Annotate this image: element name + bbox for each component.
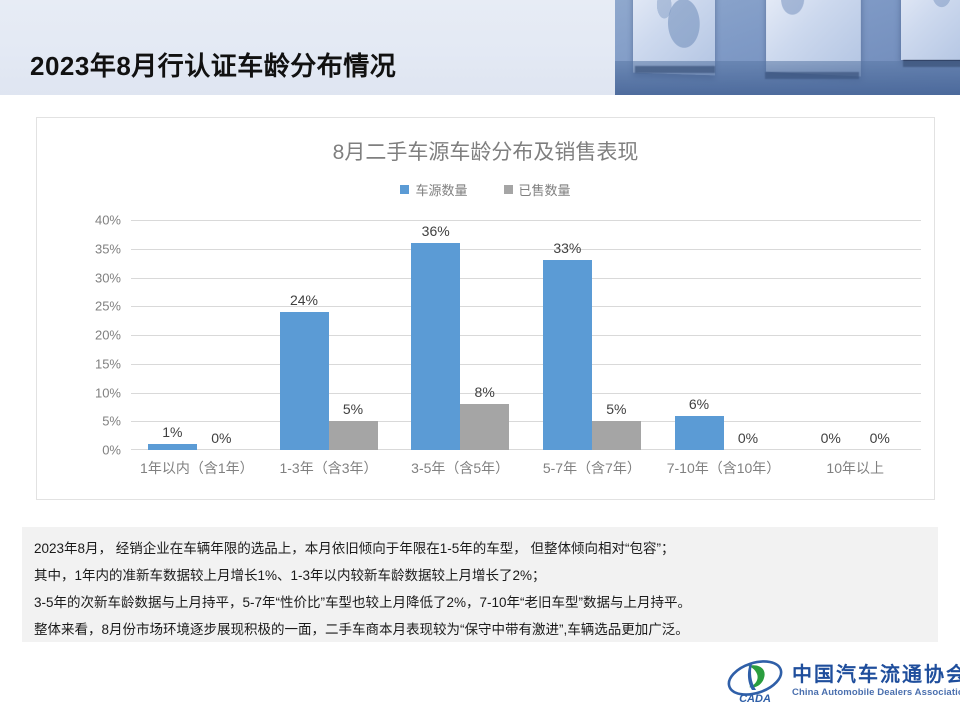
- logo-english-name: China Automobile Dealers Association: [792, 686, 960, 699]
- x-axis-tick-label: 5-7年（含7年）: [526, 458, 658, 478]
- x-axis-labels: 1年以内（含1年）1-3年（含3年）3-5年（含5年）5-7年（含7年）7-10…: [131, 458, 921, 478]
- bar-series-0[interactable]: [411, 243, 460, 450]
- cube-shadow: [765, 72, 859, 79]
- commentary-line: 2023年8月， 经销企业在车辆年限的选品上，本月依旧倾向于年限在1-5年的车型…: [34, 535, 926, 562]
- cada-emblem-icon: CADA: [726, 656, 784, 706]
- bar-series-0[interactable]: [280, 312, 329, 450]
- bar-group: 6%0%: [658, 220, 790, 450]
- y-axis-tick-label: 35%: [95, 241, 121, 256]
- y-axis-tick-label: 25%: [95, 299, 121, 314]
- bar-group: 1%0%: [131, 220, 263, 450]
- cube-shadow: [635, 66, 715, 73]
- bar-slot: 8%: [460, 220, 509, 450]
- x-axis-tick-label: 1-3年（含3年）: [263, 458, 395, 478]
- legend-label: 已售数量: [519, 180, 571, 199]
- commentary-line: 整体来看，8月份市场环境逐步展现积极的一面，二手车商本月表现较为“保守中带有激进…: [34, 616, 926, 643]
- legend-item-series-1[interactable]: 已售数量: [504, 180, 571, 199]
- bar-series-1[interactable]: [460, 404, 509, 450]
- x-axis-tick-label: 3-5年（含5年）: [394, 458, 526, 478]
- bar-series-0[interactable]: [148, 444, 197, 450]
- bar-slot: 1%: [148, 220, 197, 450]
- organization-logo: CADA 中国汽车流通协会 China Automobile Dealers A…: [726, 655, 941, 707]
- y-axis-tick-label: 5%: [102, 414, 121, 429]
- y-axis-tick-label: 20%: [95, 328, 121, 343]
- legend-swatch-icon: [504, 185, 513, 194]
- chart-container: 8月二手车源车龄分布及销售表现 车源数量 已售数量 40%35%30%25%20…: [36, 117, 935, 500]
- chart-title: 8月二手车源车龄分布及销售表现: [37, 136, 934, 166]
- commentary-line: 其中，1年内的准新车数据较上月增长1%、1-3年以内较新车龄数据较上月增长了2%…: [34, 562, 926, 589]
- x-axis-tick-label: 1年以内（含1年）: [131, 458, 263, 478]
- svg-text:CADA: CADA: [739, 693, 771, 705]
- bar-series-0[interactable]: [543, 260, 592, 450]
- legend-item-series-0[interactable]: 车源数量: [400, 180, 467, 199]
- y-axis: 40%35%30%25%20%15%10%5%0%: [83, 220, 127, 450]
- bar-group: 24%5%: [263, 220, 395, 450]
- bar-slot: 0%: [724, 220, 773, 450]
- logo-chinese-name: 中国汽车流通协会: [792, 664, 960, 686]
- bar-value-label: 0%: [211, 430, 231, 446]
- bar-group: 0%0%: [789, 220, 921, 450]
- y-axis-tick-label: 40%: [95, 213, 121, 228]
- bar-slot: 0%: [197, 220, 246, 450]
- x-axis-tick-label: 7-10年（含10年）: [658, 458, 790, 478]
- cube-icon: [766, 0, 861, 77]
- commentary-line: 3-5年的次新车龄数据与上月持平，5-7年“性价比”车型也较上月降低了2%，7-…: [34, 589, 926, 616]
- commentary-panel: 2023年8月， 经销企业在车辆年限的选品上，本月依旧倾向于年限在1-5年的车型…: [22, 527, 938, 642]
- bar-group: 36%8%: [394, 220, 526, 450]
- bar-value-label: 6%: [689, 396, 709, 412]
- chart-bars: 1%0%24%5%36%8%33%5%6%0%0%0%: [131, 220, 921, 450]
- y-axis-tick-label: 10%: [95, 385, 121, 400]
- bar-value-label: 1%: [162, 424, 182, 440]
- header-decorative-image: [615, 0, 960, 95]
- bar-value-label: 24%: [290, 292, 318, 308]
- chart-legend: 车源数量 已售数量: [37, 180, 934, 199]
- legend-label: 车源数量: [415, 180, 467, 199]
- bar-slot: 0%: [855, 220, 904, 450]
- cube-shadow: [903, 60, 960, 67]
- bar-value-label: 0%: [821, 430, 841, 446]
- bar-slot: 33%: [543, 220, 592, 450]
- bar-value-label: 5%: [606, 401, 626, 417]
- bar-slot: 5%: [592, 220, 641, 450]
- bar-group: 33%5%: [526, 220, 658, 450]
- y-axis-tick-label: 15%: [95, 356, 121, 371]
- bar-value-label: 0%: [870, 430, 890, 446]
- bar-slot: 6%: [675, 220, 724, 450]
- bar-series-0[interactable]: [675, 416, 724, 451]
- bar-value-label: 0%: [738, 430, 758, 446]
- bar-slot: 36%: [411, 220, 460, 450]
- cube-icon: [901, 0, 960, 60]
- legend-swatch-icon: [400, 185, 409, 194]
- chart-plot-area: 40%35%30%25%20%15%10%5%0% 1%0%24%5%36%8%…: [83, 220, 921, 450]
- bar-value-label: 8%: [475, 384, 495, 400]
- x-axis-tick-label: 10年以上: [789, 458, 921, 478]
- bar-slot: 24%: [280, 220, 329, 450]
- cube-icon: [633, 0, 715, 75]
- bar-value-label: 33%: [553, 240, 581, 256]
- bar-slot: 5%: [329, 220, 378, 450]
- y-axis-tick-label: 30%: [95, 270, 121, 285]
- bar-value-label: 36%: [422, 223, 450, 239]
- y-axis-tick-label: 0%: [102, 443, 121, 458]
- bar-slot: 0%: [806, 220, 855, 450]
- page-title: 2023年8月行认证车龄分布情况: [30, 46, 396, 83]
- bar-value-label: 5%: [343, 401, 363, 417]
- bar-series-1[interactable]: [329, 421, 378, 450]
- bar-series-1[interactable]: [592, 421, 641, 450]
